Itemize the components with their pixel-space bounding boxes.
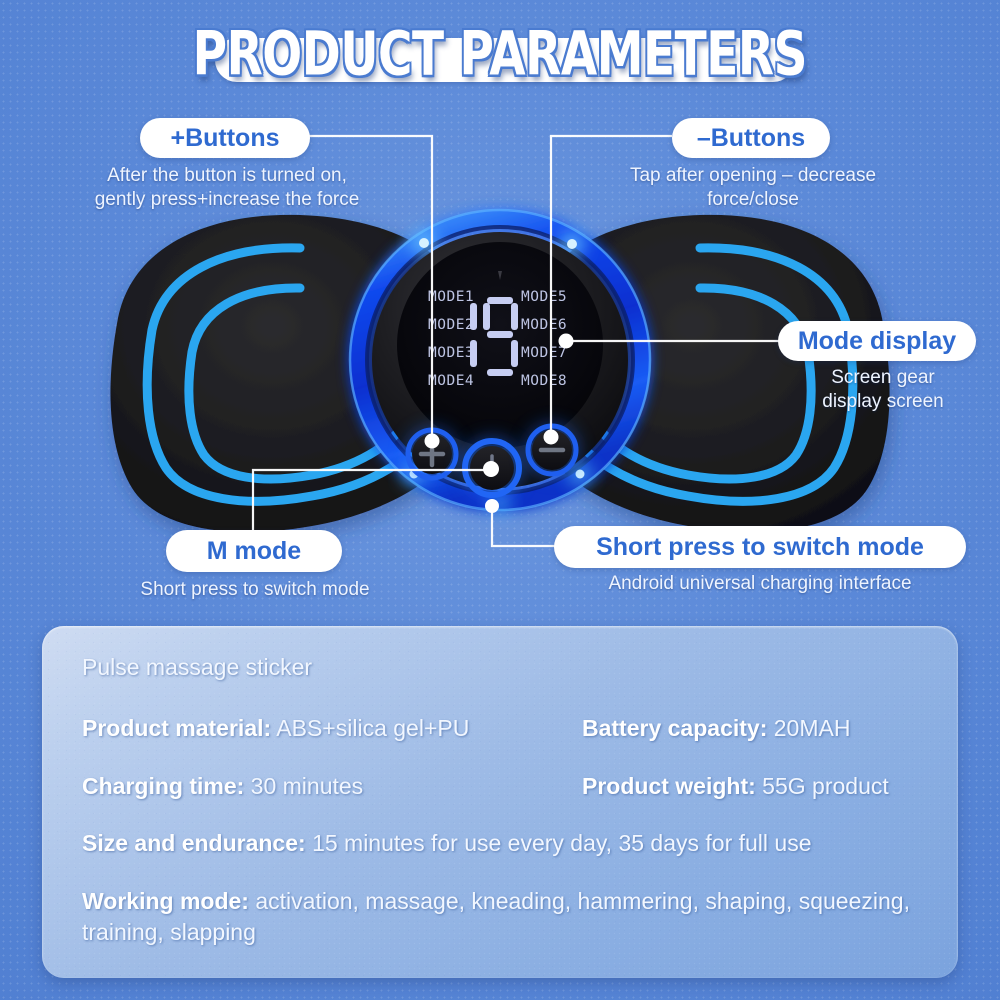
svg-text:MODE6: MODE6 (521, 317, 567, 333)
callout-mode-display[interactable]: Mode display (778, 321, 976, 361)
callout-switch-mode[interactable]: Short press to switch mode (554, 526, 966, 568)
specifications-panel: Pulse massage sticker Product material: … (42, 626, 958, 978)
spec-row-1: Product material: ABS+silica gel+PU Batt… (82, 713, 918, 771)
callout-plus-buttons-label: +Buttons (170, 124, 279, 153)
callout-mode-display-label: Mode display (798, 327, 956, 356)
svg-text:MODE4: MODE4 (428, 373, 474, 389)
spec-battery-capacity-value: 20MAH (774, 715, 851, 741)
callout-m-mode-label: M mode (207, 537, 301, 566)
spec-product-material: Product material: ABS+silica gel+PU (82, 713, 582, 744)
spec-product-weight: Product weight: 55G product (582, 771, 918, 802)
spec-battery-capacity: Battery capacity: 20MAH (582, 713, 918, 744)
spec-product-material-label: Product material: (82, 715, 271, 741)
callout-switch-mode-label: Short press to switch mode (596, 533, 924, 562)
spec-size-endurance-value: 15 minutes for use every day, 35 days fo… (312, 830, 811, 856)
svg-text:MODE8: MODE8 (521, 373, 567, 389)
spec-heading: Pulse massage sticker (82, 652, 918, 683)
callout-minus-buttons-label: –Buttons (697, 124, 805, 153)
spec-size-endurance-label: Size and endurance: (82, 830, 306, 856)
spec-charging-time-value: 30 minutes (251, 773, 364, 799)
spec-battery-capacity-label: Battery capacity: (582, 715, 767, 741)
callout-switch-mode-caption: Android universal charging interface (582, 572, 938, 596)
spec-product-material-value: ABS+silica gel+PU (276, 715, 469, 741)
callout-plus-buttons-caption: After the button is turned on, gently pr… (82, 164, 372, 213)
spec-heading-text: Pulse massage sticker (82, 654, 312, 680)
callout-m-mode[interactable]: M mode (166, 530, 342, 572)
mode-button (462, 438, 522, 498)
callout-plus-buttons[interactable]: +Buttons (140, 118, 310, 158)
plus-button (406, 428, 458, 480)
callout-mode-display-caption: Screen gear display screen (798, 366, 968, 415)
product-infographic: PRODUCT PARAMETERS (0, 0, 1000, 1000)
svg-text:MODE2: MODE2 (428, 317, 474, 333)
callout-m-mode-caption: Short press to switch mode (128, 578, 382, 602)
svg-text:MODE1: MODE1 (428, 289, 474, 305)
callout-minus-buttons-caption: Tap after opening – decrease force/close (608, 164, 898, 213)
svg-text:MODE5: MODE5 (521, 289, 567, 305)
spec-row-2: Charging time: 30 minutes Product weight… (82, 771, 918, 829)
spec-working-mode: Working mode: activation, massage, knead… (82, 886, 918, 948)
svg-text:MODE3: MODE3 (428, 345, 474, 361)
spec-product-weight-label: Product weight: (582, 773, 756, 799)
spec-size-endurance: Size and endurance: 15 minutes for use e… (82, 828, 918, 859)
minus-button (526, 424, 578, 476)
callout-minus-buttons[interactable]: –Buttons (672, 118, 830, 158)
spec-charging-time: Charging time: 30 minutes (82, 771, 582, 802)
svg-text:MODE7: MODE7 (521, 345, 567, 361)
spec-product-weight-value: 55G product (762, 773, 889, 799)
spec-working-mode-label: Working mode: (82, 888, 249, 914)
spec-charging-time-label: Charging time: (82, 773, 244, 799)
